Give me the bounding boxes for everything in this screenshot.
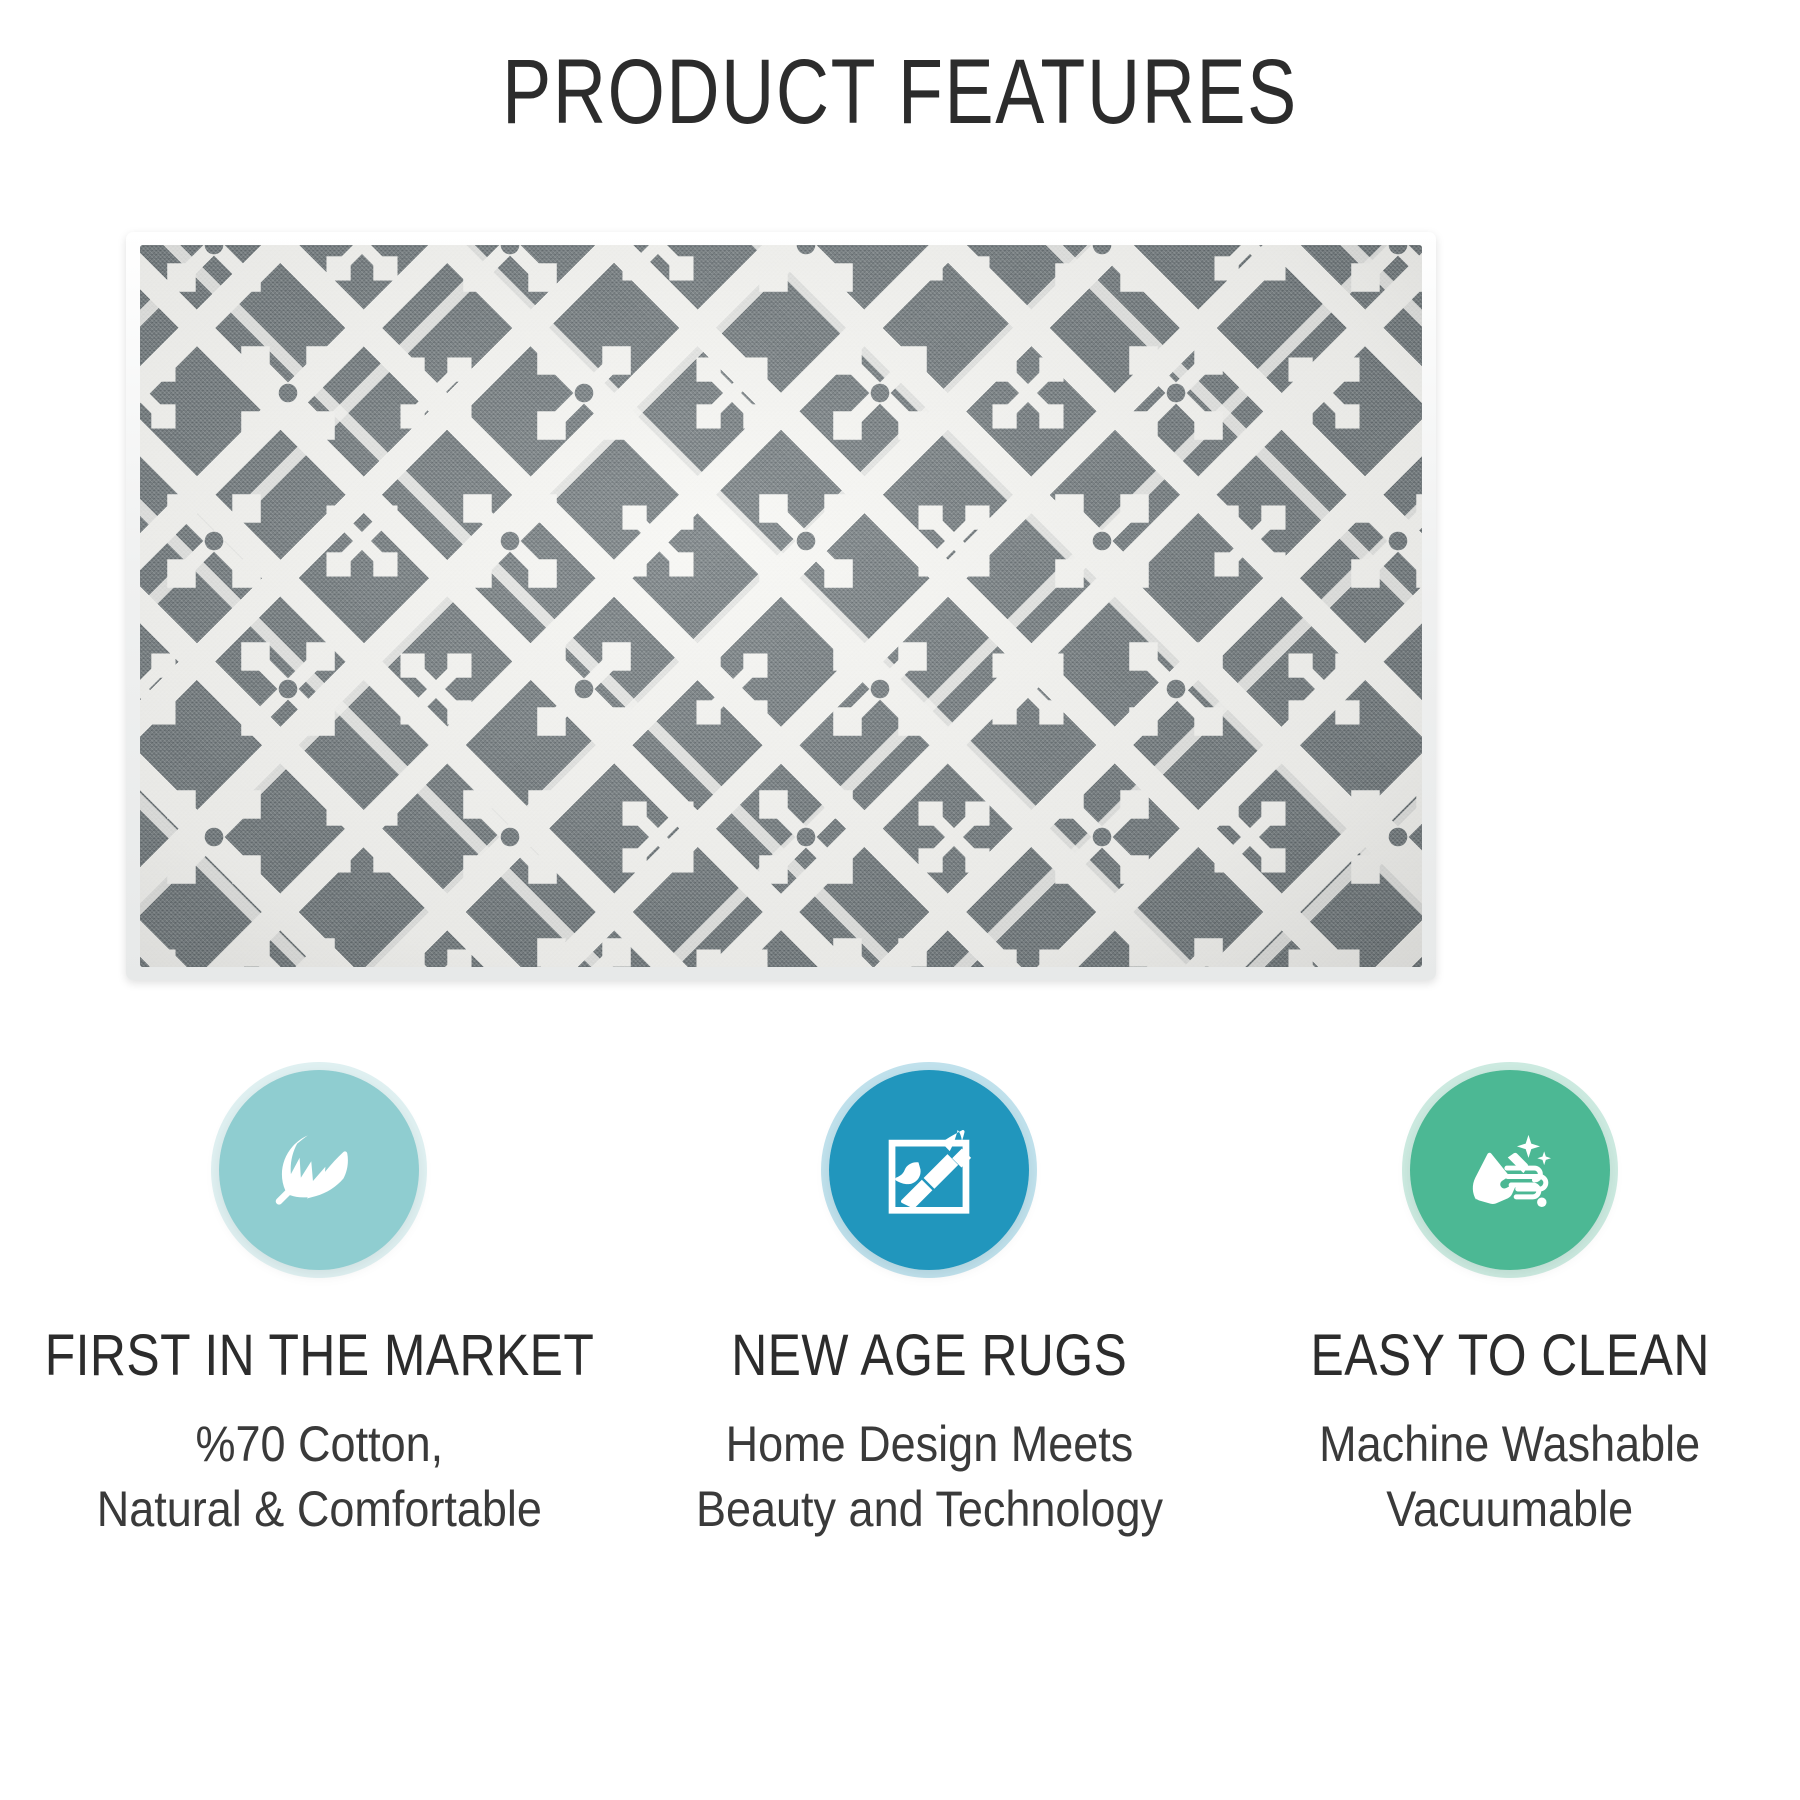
feather-icon (219, 1070, 419, 1270)
rug-fabric-border (126, 232, 1436, 980)
feature-heading: NEW AGE RUGS (731, 1326, 1127, 1386)
rug-face (140, 245, 1422, 967)
feature-description: Machine Washable Vacuumable (1319, 1412, 1700, 1542)
feature-list: FIRST IN THE MARKET %70 Cotton, Natural … (0, 1070, 1800, 1542)
feature-description: %70 Cotton, Natural & Comfortable (97, 1412, 542, 1542)
feature-description: Home Design Meets Beauty and Technology (696, 1412, 1163, 1542)
page-title: PRODUCT FEATURES (180, 46, 1620, 138)
feature-heading: FIRST IN THE MARKET (45, 1326, 595, 1386)
hand-wiping-sparkle-icon-glyph (1454, 1114, 1566, 1226)
feature-item-first-in-the-market: FIRST IN THE MARKET %70 Cotton, Natural … (0, 1070, 639, 1542)
feature-item-new-age-rugs: NEW AGE RUGS Home Design Meets Beauty an… (639, 1070, 1220, 1542)
feather-icon-glyph (263, 1114, 375, 1226)
feature-heading: EASY TO CLEAN (1310, 1326, 1709, 1386)
feature-description-line: Vacuumable (1319, 1477, 1700, 1542)
design-frame-pen-brush-icon (829, 1070, 1029, 1270)
hand-wiping-sparkle-icon (1410, 1070, 1610, 1270)
rug-shading (140, 245, 1422, 967)
feature-description-line: Home Design Meets (696, 1412, 1163, 1477)
product-image (126, 232, 1436, 980)
feature-description-line: %70 Cotton, (97, 1412, 542, 1477)
feature-description-line: Machine Washable (1319, 1412, 1700, 1477)
feature-description-line: Beauty and Technology (696, 1477, 1163, 1542)
feature-item-easy-to-clean: EASY TO CLEAN Machine Washable Vacuumabl… (1220, 1070, 1800, 1542)
design-frame-pen-brush-icon-glyph (873, 1114, 985, 1226)
feature-description-line: Natural & Comfortable (97, 1477, 542, 1542)
